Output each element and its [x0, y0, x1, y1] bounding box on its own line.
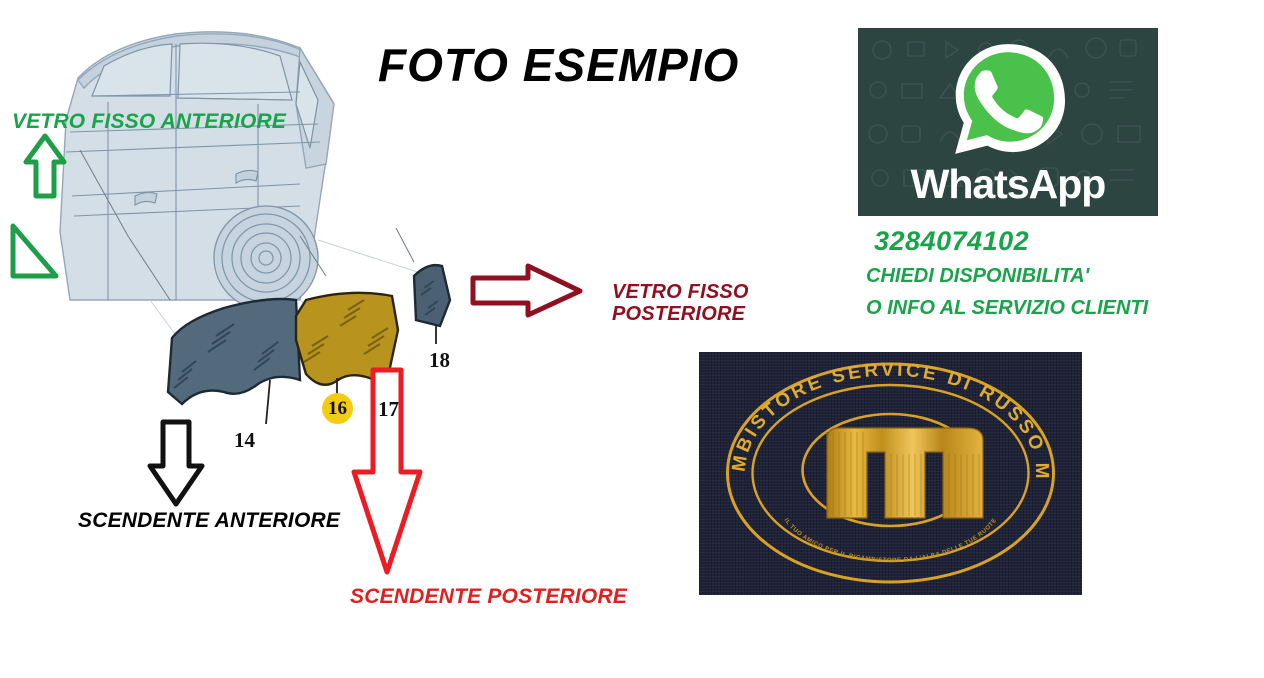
company-tagline: IL TUO AMICO PER IL RICAMBISTORE DA L'AL… [783, 517, 999, 563]
up-arrow-green [26, 136, 64, 196]
whatsapp-wordmark: WhatsApp [858, 161, 1158, 208]
part-number-16: 16 [328, 398, 347, 420]
company-logo-mark: MRICAMBISTORE SERVICE DI RUSSO MARCO IL … [699, 352, 1082, 595]
label-scendente-anteriore: SCENDENTE ANTERIORE [78, 509, 340, 533]
contact-line-2: O INFO AL SERVIZIO CLIENTI [866, 297, 1148, 320]
triangle-green [13, 226, 56, 276]
label-vetro-fisso-posteriore-line1: VETRO FISSO [612, 281, 749, 303]
part-18-shape [414, 265, 450, 326]
part-14-shape [168, 299, 300, 404]
company-ring-text: MRICAMBISTORE SERVICE DI RUSSO MARCO [699, 352, 1052, 482]
label-vetro-fisso-posteriore: VETRO FISSO POSTERIORE [612, 281, 749, 326]
label-scendente-posteriore: SCENDENTE POSTERIORE [350, 585, 627, 609]
poster-canvas: 14 16 17 18 FOTO ESEMPIO VETRO FISSO ANT… [0, 0, 1264, 678]
parts-diagram [0, 0, 700, 678]
down-arrow-black [150, 422, 202, 504]
svg-text:MRICAMBISTORE SERVICE DI RUSSO: MRICAMBISTORE SERVICE DI RUSSO MARCO [699, 352, 1052, 482]
part-number-17: 17 [378, 397, 399, 422]
contact-phone-number[interactable]: 3284074102 [874, 226, 1029, 257]
part-number-16-badge: 16 [322, 393, 353, 424]
svg-text:IL TUO AMICO PER IL RICAMBISTO: IL TUO AMICO PER IL RICAMBISTORE DA L'AL… [783, 517, 999, 563]
part-number-14: 14 [234, 428, 255, 453]
page-title: FOTO ESEMPIO [378, 40, 739, 92]
part-number-18: 18 [429, 348, 450, 373]
label-vetro-fisso-posteriore-line2: POSTERIORE [612, 303, 749, 325]
whatsapp-icon [947, 38, 1069, 160]
label-vetro-fisso-anteriore: VETRO FISSO ANTERIORE [12, 110, 286, 134]
right-arrow-darkred [473, 266, 580, 315]
contact-line-1: CHIEDI DISPONIBILITA' [866, 265, 1089, 288]
company-logo-panel: MRICAMBISTORE SERVICE DI RUSSO MARCO IL … [699, 352, 1082, 595]
whatsapp-banner[interactable]: WhatsApp [858, 28, 1158, 216]
company-monogram [827, 428, 983, 518]
